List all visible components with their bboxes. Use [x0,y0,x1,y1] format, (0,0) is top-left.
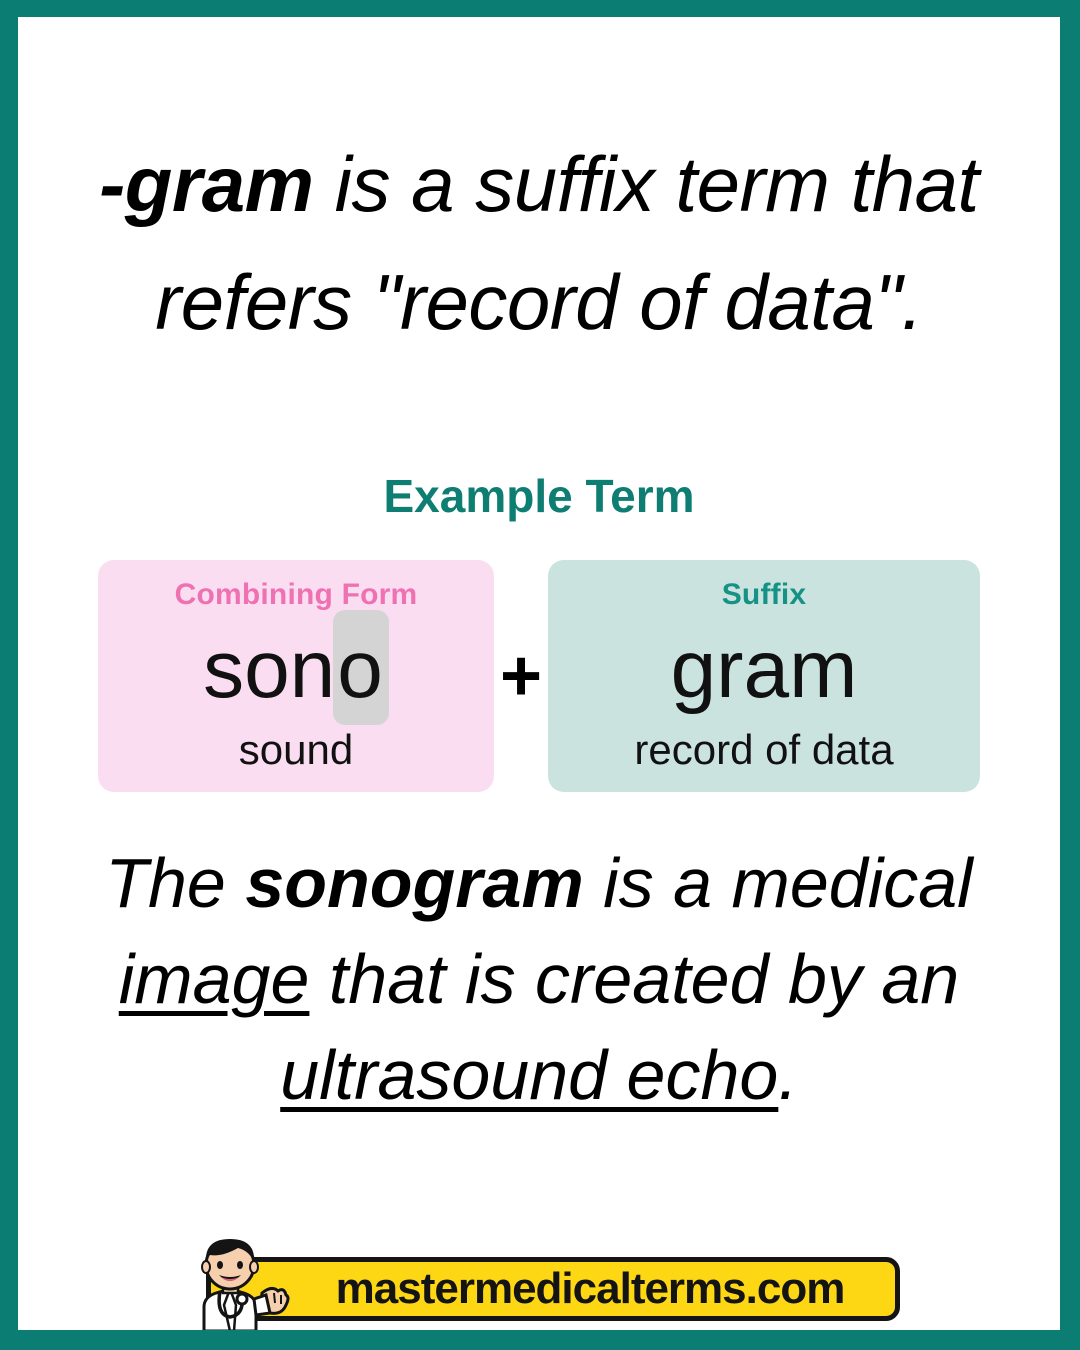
combining-vowel-highlight: o [333,610,389,725]
description-underline-1: image [119,940,310,1018]
combining-form-word: sono [98,622,494,718]
headline-term: -gram [99,140,313,228]
headline: -gram is a suffix term that refers "reco… [18,125,1060,361]
description-part-3: that is created by an [309,940,959,1018]
description-underline-2: ultrasound echo [280,1036,778,1114]
suffix-card: Suffix gram record of data [548,560,980,792]
suffix-word: gram [548,622,980,718]
description-part-4: . [778,1036,797,1114]
plus-icon: + [494,560,548,792]
combining-form-meaning: sound [98,726,494,774]
brand-url-text[interactable]: mastermedicalterms.com [290,1257,890,1321]
suffix-label: Suffix [548,578,980,612]
doctor-mascot-icon [178,1235,294,1330]
infographic-card: -gram is a suffix term that refers "reco… [18,17,1060,1330]
word-parts-row: Combining Form sono sound + Suffix gram … [98,542,980,792]
suffix-meaning: record of data [548,726,980,774]
combining-form-card: Combining Form sono sound [98,560,494,792]
combining-form-label: Combining Form [98,578,494,612]
suffix-stem: gram [671,624,858,715]
description-bold-term: sonogram [245,844,583,922]
description-text: The sonogram is a medical image that is … [18,835,1060,1123]
combining-form-stem: son [203,624,335,715]
description-part-1: The [105,844,245,922]
example-term-heading: Example Term [18,469,1060,523]
description-part-2: is a medical [584,844,973,922]
footer-brand[interactable]: mastermedicalterms.com [178,1235,900,1330]
